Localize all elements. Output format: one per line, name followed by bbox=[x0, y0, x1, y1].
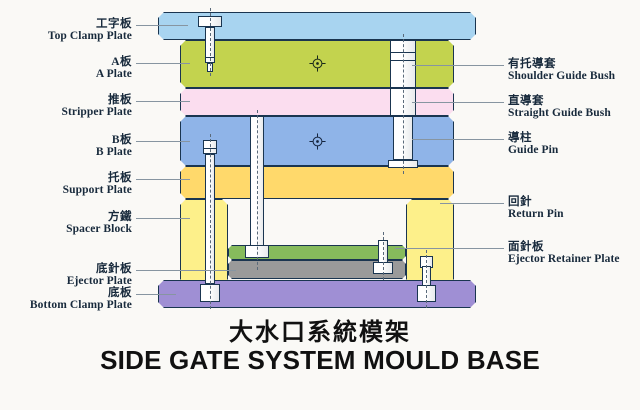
label-return-pin-en: Return Pin bbox=[508, 208, 564, 220]
label-a-plate-cn: A板 bbox=[96, 56, 132, 68]
spacer-block bbox=[180, 199, 228, 285]
label-return-pin: 回針 Return Pin bbox=[508, 196, 564, 220]
label-return-pin-cn: 回針 bbox=[508, 196, 564, 208]
label-guide-pin-en: Guide Pin bbox=[508, 144, 558, 156]
label-stripper-plate: 推板 Stripper Plate bbox=[62, 94, 133, 118]
label-stripper-plate-en: Stripper Plate bbox=[62, 106, 133, 118]
leader-ejector-retainer-plate bbox=[395, 248, 504, 249]
datum-target-icon-b-plate bbox=[309, 133, 326, 150]
label-spacer-block-cn: 方鐵 bbox=[66, 211, 132, 223]
leader-guide-pin bbox=[412, 139, 504, 140]
label-b-plate-cn: B板 bbox=[96, 134, 132, 146]
label-straight-guide-bush: 直導套 Straight Guide Bush bbox=[508, 95, 611, 119]
label-guide-pin: 導柱 Guide Pin bbox=[508, 132, 558, 156]
datum-target-icon-a-plate bbox=[309, 55, 326, 72]
label-straight-guide-bush-cn: 直導套 bbox=[508, 95, 611, 107]
support-pillar-screw-centerline bbox=[426, 250, 427, 308]
label-ejector-plate-cn: 底針板 bbox=[67, 263, 132, 275]
title-english: SIDE GATE SYSTEM MOULD BASE bbox=[0, 345, 640, 376]
label-bottom-clamp-plate-en: Bottom Clamp Plate bbox=[30, 299, 132, 311]
label-support-plate-en: Support Plate bbox=[63, 184, 132, 196]
label-a-plate: A板 A Plate bbox=[96, 56, 132, 80]
leader-b-plate bbox=[136, 141, 190, 142]
label-guide-pin-cn: 導柱 bbox=[508, 132, 558, 144]
label-b-plate: B板 B Plate bbox=[96, 134, 132, 158]
label-top-clamp-plate-en: Top Clamp Plate bbox=[48, 30, 132, 42]
label-top-clamp-plate-cn: 工字板 bbox=[48, 18, 132, 30]
label-ejector-retainer-plate-en: Ejector Retainer Plate bbox=[508, 253, 620, 265]
label-spacer-block: 方鐵 Spacer Block bbox=[66, 211, 132, 235]
cap-screw-centerline bbox=[210, 8, 211, 76]
leader-top-clamp-plate bbox=[136, 25, 188, 26]
label-support-plate: 托板 Support Plate bbox=[63, 172, 132, 196]
label-bottom-clamp-plate-cn: 底板 bbox=[30, 287, 132, 299]
support-plate bbox=[180, 166, 454, 199]
label-shoulder-guide-bush-en: Shoulder Guide Bush bbox=[508, 70, 615, 82]
leader-stripper-plate bbox=[136, 101, 190, 102]
label-support-plate-cn: 托板 bbox=[63, 172, 132, 184]
leader-shoulder-guide-bush bbox=[412, 65, 504, 66]
label-straight-guide-bush-en: Straight Guide Bush bbox=[508, 107, 611, 119]
label-spacer-block-en: Spacer Block bbox=[66, 223, 132, 235]
mould-base-diagram: 工字板 Top Clamp Plate A板 A Plate 推板 Stripp… bbox=[0, 0, 640, 410]
label-stripper-plate-cn: 推板 bbox=[62, 94, 133, 106]
leader-a-plate bbox=[136, 63, 190, 64]
label-shoulder-guide-bush-cn: 有托導套 bbox=[508, 58, 615, 70]
leader-bottom-clamp-plate bbox=[136, 294, 176, 295]
leader-support-plate bbox=[136, 179, 190, 180]
label-ejector-plate-en: Ejector Plate bbox=[67, 275, 132, 287]
label-ejector-retainer-plate: 面針板 Ejector Retainer Plate bbox=[508, 241, 620, 265]
leader-spacer-block bbox=[136, 218, 190, 219]
label-top-clamp-plate: 工字板 Top Clamp Plate bbox=[48, 18, 132, 42]
label-ejector-retainer-plate-cn: 面針板 bbox=[508, 241, 620, 253]
label-ejector-plate: 底針板 Ejector Plate bbox=[67, 263, 132, 287]
leader-straight-guide-bush bbox=[412, 102, 504, 103]
label-a-plate-en: A Plate bbox=[96, 68, 132, 80]
return-pin-right-centerline bbox=[383, 232, 384, 280]
label-bottom-clamp-plate: 底板 Bottom Clamp Plate bbox=[30, 287, 132, 311]
leader-ejector-plate bbox=[136, 270, 236, 271]
return-pin-left-centerline bbox=[210, 134, 211, 309]
guide-pin-centerline bbox=[403, 34, 404, 174]
leader-return-pin bbox=[440, 203, 504, 204]
label-shoulder-guide-bush: 有托導套 Shoulder Guide Bush bbox=[508, 58, 615, 82]
ejector-sleeve-centerline bbox=[257, 110, 258, 270]
label-b-plate-en: B Plate bbox=[96, 146, 132, 158]
title-chinese: 大水口系統模架 bbox=[0, 312, 640, 347]
